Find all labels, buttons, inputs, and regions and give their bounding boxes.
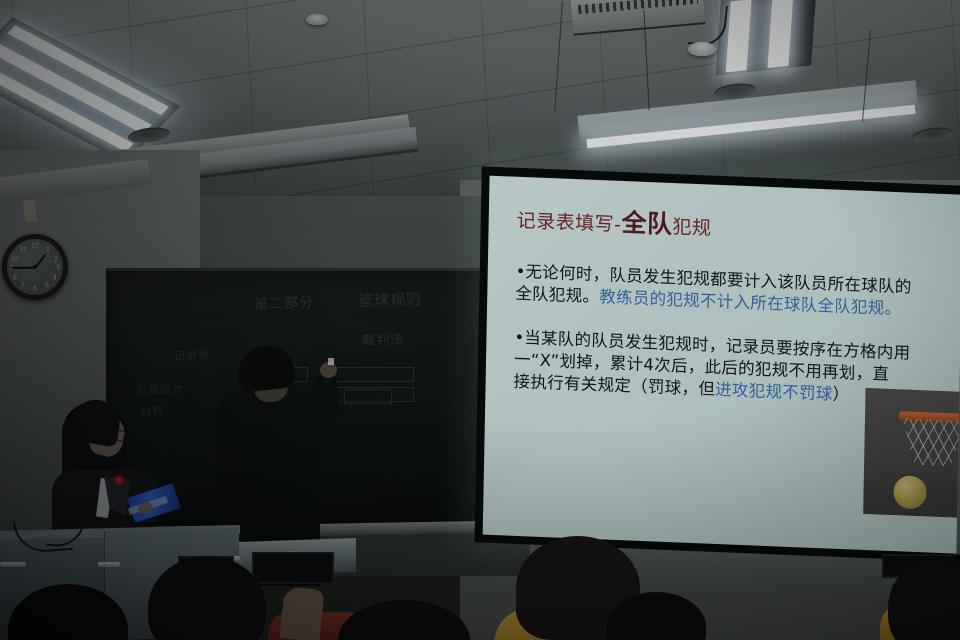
- slide-line-highlight: 进攻犯规不罚球: [715, 380, 833, 404]
- slide-paragraph: •无论何时，队员发生犯规都要计入该队员所在球队的 全队犯规。教练员的犯规不计入所…: [515, 261, 950, 323]
- smoke-detector-icon: [688, 42, 716, 56]
- presenter-woman: [46, 398, 166, 538]
- clock-numeral: 1: [46, 247, 50, 254]
- clock-center-pin: [33, 265, 37, 269]
- student-arm: [279, 586, 324, 640]
- slide-line-text: ）: [832, 385, 849, 405]
- chalk-piece: [328, 358, 334, 365]
- wall-paper-note: [23, 199, 37, 222]
- slide-title-emphasis: 全队: [621, 208, 673, 239]
- chalk-note: 第二部分: [254, 292, 315, 314]
- hoop-net-icon: [902, 418, 960, 466]
- classroom-photo-scene: 12 1 2 3 4 5 6 7 8 9 10 11 第二部分 篮球规则 裁判法…: [0, 0, 960, 640]
- clock-numeral: 2: [54, 257, 58, 264]
- clock-numeral: 7: [21, 283, 25, 290]
- slide-title: 记录表填写-全队犯规: [516, 199, 950, 252]
- basketball-hoop-image: [863, 388, 960, 518]
- ceiling-light-panel-right: [716, 0, 817, 75]
- clock-numeral: 6: [33, 286, 37, 293]
- clock-face: 12 1 2 3 4 5 6 7 8 9 10 11: [7, 239, 63, 295]
- clock-numeral: 3: [56, 265, 60, 272]
- bullet-icon: •: [516, 262, 526, 281]
- clock-numeral: 12: [31, 243, 39, 250]
- light-tube-icon: [767, 0, 793, 68]
- slide-line-text: 全队犯规。: [515, 284, 599, 306]
- clock-numeral: 8: [13, 275, 17, 282]
- clock-numeral: 10: [10, 257, 18, 264]
- chalk-table-cell: [344, 389, 392, 404]
- lectern-handle[interactable]: [98, 562, 120, 567]
- chalk-note: 篮球规则: [358, 288, 423, 311]
- wall-clock: 12 1 2 3 4 5 6 7 8 9 10 11: [2, 234, 68, 300]
- projection-screen: 记录表填写-全队犯规 •无论何时，队员发生犯规都要计入该队员所在球队的 全队犯规…: [475, 166, 960, 561]
- desk-monitor: [252, 552, 334, 584]
- clock-numeral: 11: [19, 247, 26, 254]
- hair: [236, 343, 296, 393]
- clock-numeral: 4: [53, 275, 57, 282]
- clock-numeral: 5: [45, 283, 49, 290]
- lectern-handle[interactable]: [0, 562, 26, 567]
- clock-minute-hand: [11, 267, 35, 269]
- student-head: [338, 600, 470, 640]
- chalk-note: 犯规统计: [136, 380, 185, 398]
- badge-icon: [115, 476, 123, 484]
- screen-surface: 记录表填写-全队犯规 •无论何时，队员发生犯规都要计入该队员所在球队的 全队犯规…: [483, 176, 960, 554]
- bullet-icon: •: [514, 328, 524, 347]
- slide-title-prefix: 记录表填写-: [517, 210, 622, 236]
- presentation-slide: 记录表填写-全队犯规 •无论何时，队员发生犯规都要计入该队员所在球队的 全队犯规…: [483, 176, 960, 554]
- chalk-note: 记录表: [174, 346, 211, 363]
- smoke-detector-icon: [306, 14, 328, 25]
- slide-title-suffix: 犯规: [672, 216, 711, 240]
- forearm: [314, 371, 341, 419]
- light-tube-icon: [725, 0, 751, 72]
- basketball-icon: [893, 475, 927, 509]
- chalk-note: 裁判法: [362, 328, 405, 348]
